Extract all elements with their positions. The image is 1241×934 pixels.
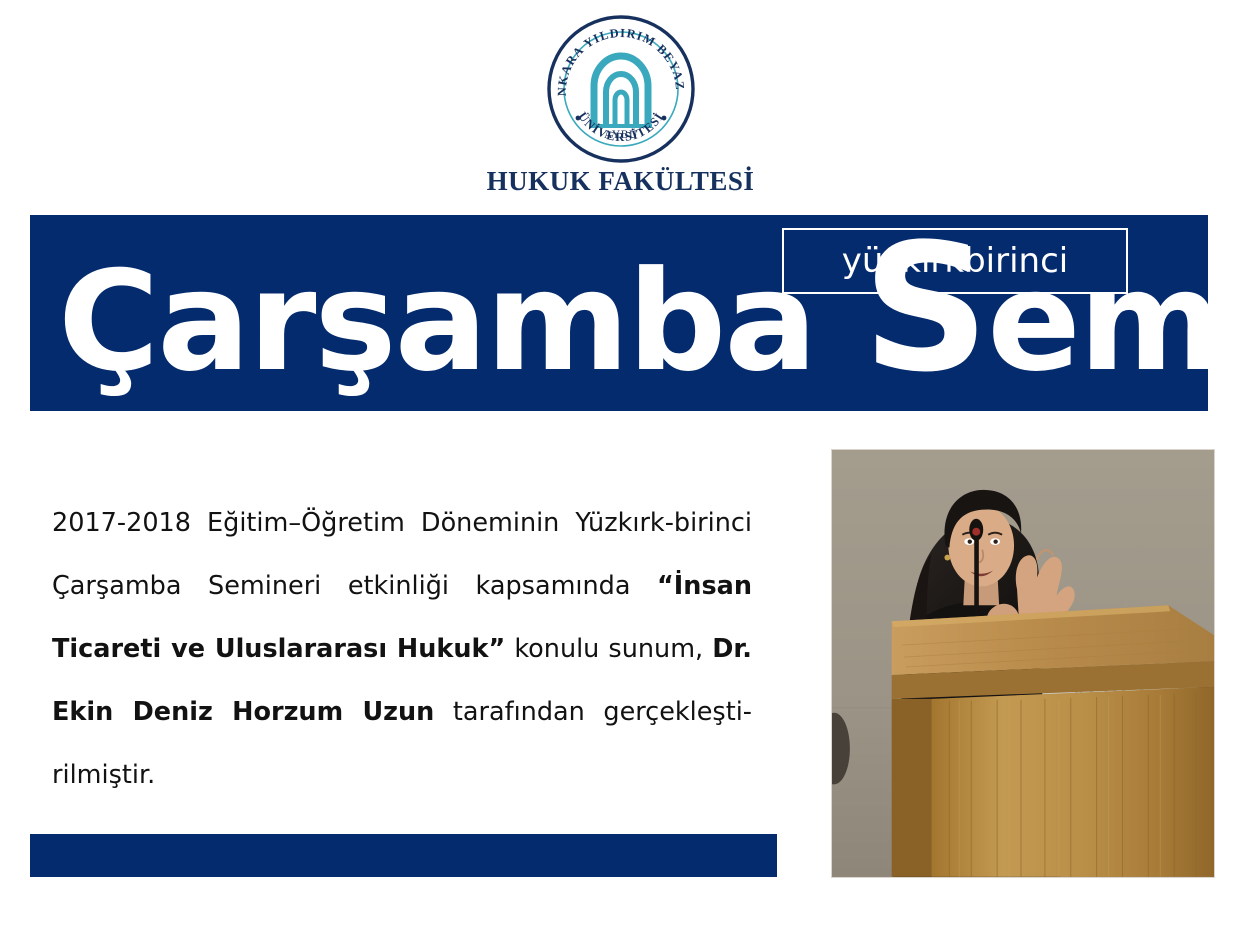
ordinal-label: yüzkırkbirinci	[784, 241, 1126, 281]
speaker-at-podium-photo: VAIO	[831, 449, 1215, 878]
body-text-intro: 2017-2018 Eğitim–Öğretim Döneminin Yüzkı…	[52, 508, 752, 601]
header-logo-block: AYBÜ ANKARA YILDIRIM BEYAZIT ÜNİVERSİTES…	[0, 14, 1241, 197]
announcement-body: 2017-2018 Eğitim–Öğretim Döneminin Yüzkı…	[52, 492, 752, 807]
body-text-middle: konulu sunum,	[505, 634, 712, 664]
poster-canvas: AYBÜ ANKARA YILDIRIM BEYAZIT ÜNİVERSİTES…	[0, 0, 1241, 934]
ordinal-callout-box: yüzkırkbirinci	[782, 228, 1128, 294]
faculty-name: HUKUK FAKÜLTESİ	[0, 166, 1241, 197]
footer-bar	[30, 834, 777, 877]
announcement-paragraph: 2017-2018 Eğitim–Öğretim Döneminin Yüzkı…	[52, 492, 752, 807]
title-word-carsamba: Çarşamba	[58, 241, 815, 402]
aybu-university-emblem-icon: AYBÜ ANKARA YILDIRIM BEYAZIT ÜNİVERSİTES…	[546, 14, 696, 164]
